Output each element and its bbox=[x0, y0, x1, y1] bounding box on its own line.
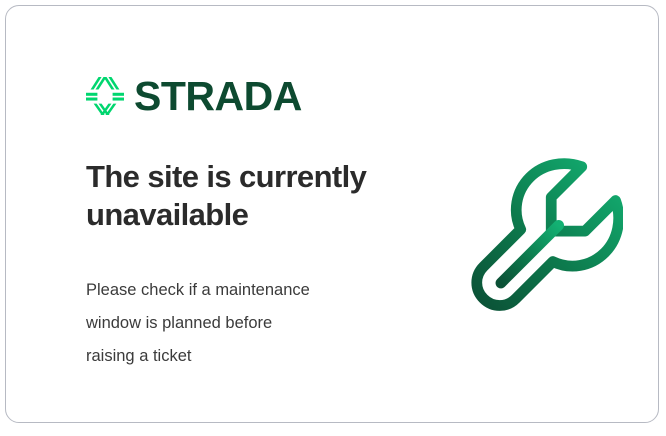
page-title: The site is currently unavailable bbox=[86, 158, 416, 234]
strada-asterisk-icon bbox=[86, 77, 124, 115]
status-card: STRADA The site is currently unavailable… bbox=[5, 5, 659, 423]
description-line: window is planned before bbox=[86, 307, 396, 340]
brand-wordmark: STRADA bbox=[134, 76, 302, 117]
error-page: STRADA The site is currently unavailable… bbox=[0, 0, 666, 436]
brand-logo: STRADA bbox=[86, 74, 302, 118]
page-description: Please check if a maintenance window is … bbox=[86, 274, 396, 373]
description-line: Please check if a maintenance bbox=[86, 274, 396, 307]
wrench-icon bbox=[458, 151, 623, 326]
description-line: raising a ticket bbox=[86, 340, 396, 373]
